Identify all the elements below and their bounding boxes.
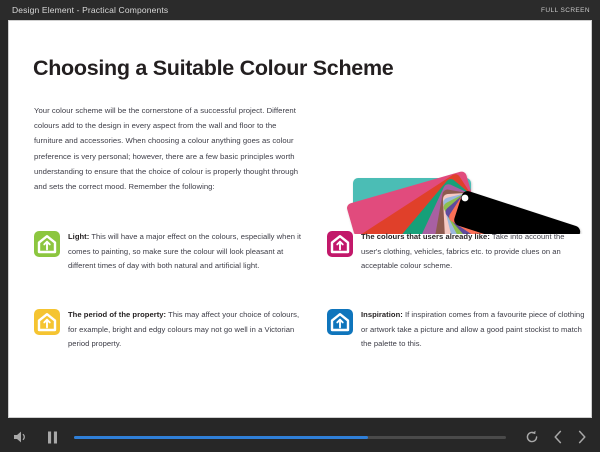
bullet-heading-light: Light:: [68, 232, 89, 241]
next-slide-icon[interactable]: [572, 427, 592, 447]
bullet-text-user-colours: The colours that users already like: Tak…: [361, 230, 585, 274]
player-controls-bar: [0, 422, 600, 452]
fullscreen-button[interactable]: FULL SCREEN: [541, 7, 590, 14]
previous-slide-icon[interactable]: [548, 427, 568, 447]
bullet-text-light: Light: This will have a major effect on …: [68, 230, 304, 274]
home-arrow-icon-blue: [327, 309, 353, 335]
bullet-item-inspiration: Inspiration: If inspiration comes from a…: [327, 308, 585, 352]
replay-icon[interactable]: [522, 427, 542, 447]
course-title: Design Element - Practical Components: [12, 5, 168, 15]
pause-button[interactable]: [42, 427, 62, 447]
fan-rivet-dot: [462, 195, 469, 202]
slide-content: Choosing a Suitable Colour Scheme Your c…: [8, 20, 592, 418]
intro-paragraph: Your colour scheme will be the cornersto…: [34, 103, 302, 194]
volume-icon[interactable]: [10, 427, 32, 447]
bullet-text-property-period: The period of the property: This may aff…: [68, 308, 304, 352]
fan-blades: [346, 170, 582, 234]
progress-fill: [74, 436, 368, 439]
course-player-window: Design Element - Practical Components FU…: [0, 0, 600, 452]
bullet-item-light: Light: This will have a major effect on …: [34, 230, 304, 274]
progress-bar[interactable]: [74, 427, 506, 447]
bullet-text-inspiration: Inspiration: If inspiration comes from a…: [361, 308, 585, 352]
title-bar: Design Element - Practical Components FU…: [0, 0, 600, 20]
progress-track[interactable]: [74, 436, 506, 439]
swatch-black: [453, 190, 582, 234]
colour-fan-image: [339, 59, 589, 234]
bullet-heading-property-period: The period of the property:: [68, 310, 166, 319]
home-arrow-icon-magenta: [327, 231, 353, 257]
bullet-item-property-period: The period of the property: This may aff…: [34, 308, 304, 352]
home-arrow-icon-yellow: [34, 309, 60, 335]
colour-fan-svg: [339, 59, 589, 234]
bullet-heading-user-colours: The colours that users already like:: [361, 232, 490, 241]
bullet-heading-inspiration: Inspiration:: [361, 310, 403, 319]
home-arrow-icon-green: [34, 231, 60, 257]
bullet-item-user-colours: The colours that users already like: Tak…: [327, 230, 585, 274]
bullet-body-light: This will have a major effect on the col…: [68, 232, 301, 270]
